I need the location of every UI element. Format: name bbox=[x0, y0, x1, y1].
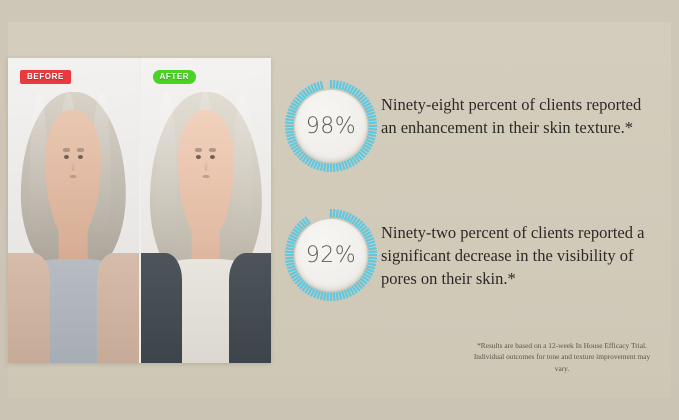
mouth-shape bbox=[70, 175, 77, 178]
stat-statement-98: Ninety-eight percent of clients reported… bbox=[381, 94, 649, 140]
gauge-value-label: 92% bbox=[306, 243, 356, 268]
before-badge: BEFORE bbox=[20, 70, 71, 84]
cardigan-right bbox=[229, 253, 271, 363]
gauge-hub: 98% bbox=[295, 90, 367, 162]
before-after-photo-strip: BEFORE AFTER bbox=[8, 58, 271, 363]
after-photo: AFTER bbox=[141, 58, 272, 363]
stat-gauge-98: 98% bbox=[284, 79, 378, 173]
eye-left bbox=[196, 155, 201, 159]
eye-right bbox=[210, 155, 215, 159]
before-photo: BEFORE bbox=[8, 58, 141, 363]
cardigan-right bbox=[97, 253, 141, 363]
nose-shape bbox=[72, 161, 75, 171]
nose-shape bbox=[204, 161, 207, 171]
eye-right bbox=[78, 155, 83, 159]
eyebrow-left bbox=[195, 148, 202, 151]
footnote-disclaimer: *Results are based on a 12-week In House… bbox=[467, 340, 657, 374]
poster-canvas: BEFORE AFTER bbox=[0, 0, 679, 420]
stat-gauge-92: 92% bbox=[284, 208, 378, 302]
cardigan-left bbox=[8, 253, 50, 363]
mouth-shape bbox=[202, 175, 209, 178]
stat-statement-92: Ninety-two percent of clients reported a… bbox=[381, 222, 649, 290]
eyebrow-right bbox=[77, 148, 84, 151]
eye-left bbox=[64, 155, 69, 159]
gauge-hub: 92% bbox=[295, 219, 367, 291]
cardigan-left bbox=[141, 253, 183, 363]
gauge-value-label: 98% bbox=[306, 114, 356, 139]
eyebrow-right bbox=[209, 148, 216, 151]
eyebrow-left bbox=[63, 148, 70, 151]
after-badge: AFTER bbox=[153, 70, 197, 84]
